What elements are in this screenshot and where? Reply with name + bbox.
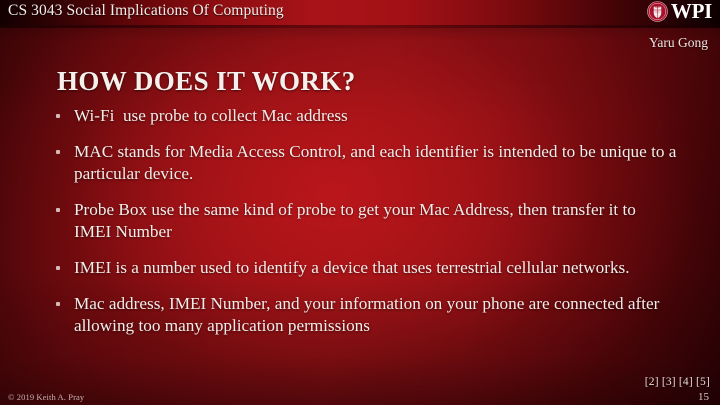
bullet-text: Wi-Fi use probe to collect Mac address	[74, 105, 677, 127]
bullet-item: IMEI is a number used to identify a devi…	[52, 257, 677, 279]
bullet-text: Mac address, IMEI Number, and your infor…	[74, 293, 677, 337]
bullet-item: Probe Box use the same kind of probe to …	[52, 199, 677, 243]
bullet-item: Mac address, IMEI Number, and your infor…	[52, 293, 677, 337]
bullet-marker-icon	[56, 266, 60, 270]
reference-citations: [2] [3] [4] [5]	[645, 376, 710, 388]
bullet-marker-icon	[56, 150, 60, 154]
course-title: CS 3043 Social Implications Of Computing	[8, 2, 284, 20]
slide: CS 3043 Social Implications Of Computing…	[0, 0, 720, 405]
slide-title: HOW DOES IT WORK?	[57, 66, 356, 97]
bullet-text: IMEI is a number used to identify a devi…	[74, 257, 677, 279]
wpi-seal-icon	[647, 1, 668, 22]
bullet-text: Probe Box use the same kind of probe to …	[74, 199, 677, 243]
page-number: 15	[698, 391, 709, 403]
header-underline	[0, 25, 720, 28]
bullet-marker-icon	[56, 208, 60, 212]
bullet-list: Wi-Fi use probe to collect Mac address M…	[52, 105, 677, 337]
bullet-marker-icon	[56, 114, 60, 118]
bullet-text: MAC stands for Media Access Control, and…	[74, 141, 677, 185]
author-name: Yaru Gong	[649, 35, 708, 51]
wpi-logo: WPI	[647, 1, 712, 22]
bullet-marker-icon	[56, 302, 60, 306]
bullet-item: Wi-Fi use probe to collect Mac address	[52, 105, 677, 127]
wpi-wordmark: WPI	[671, 1, 712, 22]
copyright-notice: © 2019 Keith A. Pray	[8, 392, 84, 402]
bullet-item: MAC stands for Media Access Control, and…	[52, 141, 677, 185]
